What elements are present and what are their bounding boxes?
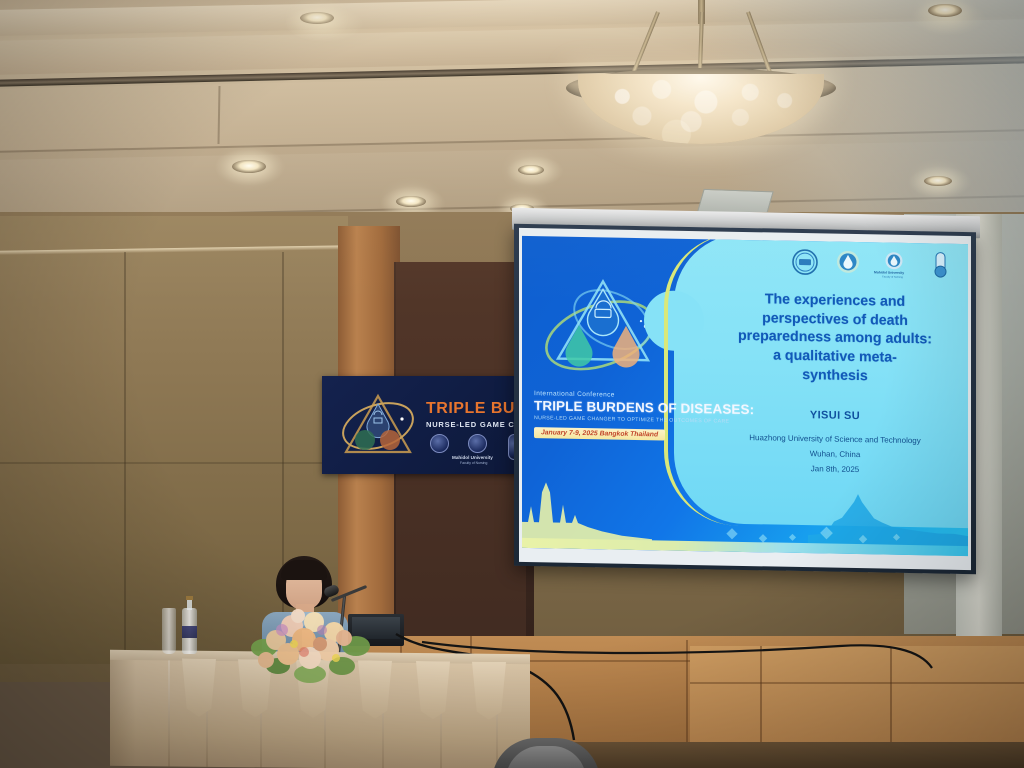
thai-temple-silhouette-left bbox=[522, 480, 652, 544]
cloth-shadow-left bbox=[110, 660, 136, 766]
chandelier-pendant-light bbox=[566, 0, 836, 146]
chandelier-bowl-shade bbox=[578, 74, 824, 144]
conference-date-badge: January 7-9, 2025 Bangkok Thailand bbox=[534, 427, 665, 440]
slide-partner-logos: Mahidol University Faculty of Nursing bbox=[790, 249, 960, 282]
presentation-slide: Mahidol University Faculty of Nursing Th… bbox=[522, 236, 968, 556]
banner-triangle-logo bbox=[340, 390, 416, 460]
conference-line-3: NURSE-LED GAME CHANGER TO OPTIMIZE THE O… bbox=[534, 415, 748, 425]
drinking-glass bbox=[162, 608, 176, 654]
wall-seam-horizontal bbox=[0, 462, 340, 464]
cloth-sash-1 bbox=[182, 659, 216, 717]
bottle-cap bbox=[186, 596, 193, 600]
temple-left-svg bbox=[522, 480, 652, 544]
slide-title: The experiences and perspectives of deat… bbox=[714, 289, 956, 387]
banner-title: TRIPLE BU bbox=[426, 400, 515, 418]
chandelier-arm-center bbox=[698, 12, 704, 76]
banner-logo-1 bbox=[430, 434, 449, 453]
thai-temple-silhouette-right bbox=[808, 491, 968, 550]
slide-logo-mahidol-sub: Faculty of Nursing bbox=[882, 276, 903, 279]
conference-line-2: TRIPLE BURDENS OF DISEASES: bbox=[534, 398, 748, 417]
bouquet-svg bbox=[248, 608, 372, 684]
downlight-4 bbox=[518, 165, 544, 175]
cloth-sash-5 bbox=[416, 661, 450, 719]
cloth-fold-1 bbox=[168, 660, 170, 766]
temple-right-svg bbox=[808, 491, 968, 550]
banner-org-sub: Faculty of Nursing bbox=[460, 461, 487, 465]
conference-room-photo: TRIPLE BU NURSE-LED GAME CHA Mahidol Uni… bbox=[0, 0, 1024, 768]
flower-bouquet bbox=[248, 608, 372, 684]
banner-org-name: Mahidol University bbox=[452, 455, 493, 460]
downlight-glow-7 bbox=[284, 6, 364, 42]
chandelier-arm-left bbox=[632, 11, 660, 72]
chandelier-arm-right bbox=[746, 11, 772, 73]
standing-banner: TRIPLE BU NURSE-LED GAME CHA Mahidol Uni… bbox=[322, 376, 537, 474]
slide-logo-mahidol-label: Mahidol University bbox=[874, 270, 904, 275]
banner-subtitle: NURSE-LED GAME CHA bbox=[426, 420, 527, 429]
slide-diamond-1 bbox=[726, 528, 737, 539]
slide-logos-svg bbox=[790, 249, 960, 284]
downlight-7 bbox=[300, 12, 334, 24]
water-bottle bbox=[182, 596, 197, 654]
downlight-1 bbox=[232, 160, 266, 173]
cloth-sash-6 bbox=[472, 662, 506, 720]
slide-conference-block: International Conference TRIPLE BURDENS … bbox=[534, 390, 748, 443]
bottle-label bbox=[182, 626, 197, 638]
downlight-2 bbox=[396, 196, 426, 207]
wall-seam-left bbox=[124, 252, 126, 652]
downlight-6 bbox=[924, 176, 952, 186]
downlight-5 bbox=[928, 4, 962, 17]
slide-diamond-3 bbox=[789, 534, 796, 541]
banner-logo-2 bbox=[468, 434, 487, 453]
presenter-fringe bbox=[281, 560, 327, 580]
